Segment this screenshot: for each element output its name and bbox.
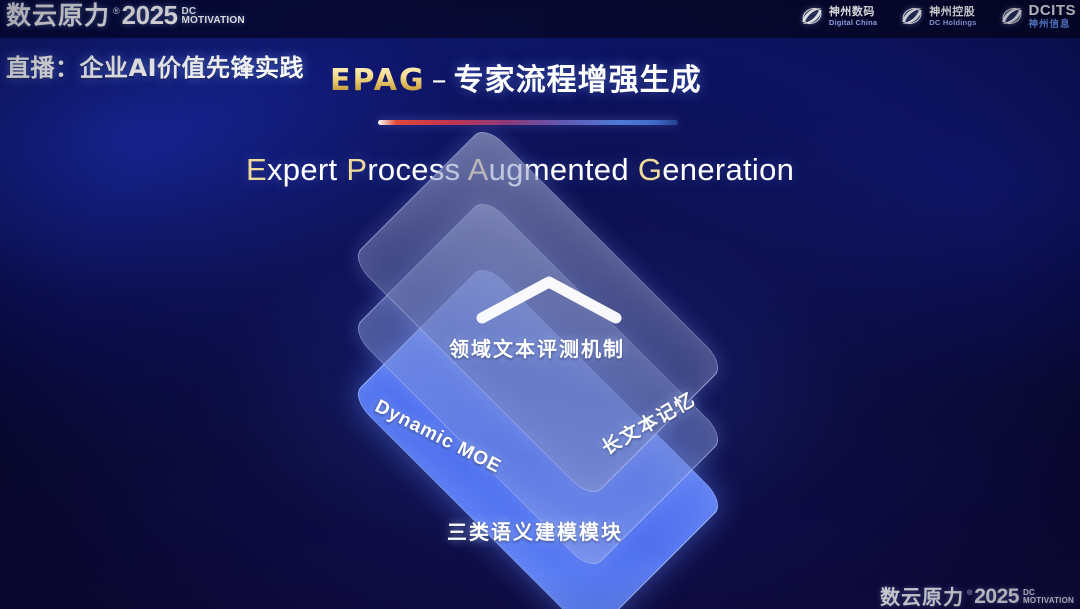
footer-brand-dc-text: DC <box>1023 589 1074 596</box>
subtitle-cap-p: P <box>346 152 367 187</box>
brand-registered-mark: ® <box>113 7 120 16</box>
brand-logo-chinese: 数云原力 <box>6 3 110 28</box>
subtitle-word-expert: xpert <box>267 152 337 187</box>
footer-brand-motivation-text: MOTIVATION <box>1023 596 1074 605</box>
footer-brand-year: 2025 <box>974 586 1019 607</box>
footer-brand-logo: 数云原力 ® 2025 DC MOTIVATION <box>880 586 1074 607</box>
swoosh-icon <box>799 3 825 29</box>
brand-motivation-text: MOTIVATION <box>182 16 245 26</box>
brand-logo-dc-motivation: DC MOTIVATION <box>182 7 245 26</box>
swoosh-icon <box>899 3 925 29</box>
page-title-dash: – <box>432 63 448 98</box>
footer-brand-chinese: 数云原力 <box>880 587 964 607</box>
brand-logo: 数云原力 ® 2025 DC MOTIVATION <box>6 2 245 28</box>
partner-name-en: 神州信息 <box>1029 20 1077 30</box>
partner-logo-dc-holdings: 神州控股 DC Holdings <box>899 3 976 29</box>
title-divider <box>378 120 678 125</box>
live-session-title: 直播：企业AI价值先锋实践 <box>6 48 304 83</box>
page-title-chinese: 专家流程增强生成 <box>454 63 702 98</box>
swoosh-icon <box>999 3 1025 29</box>
partner-name-en: Digital China <box>829 19 877 27</box>
footer-brand-dc-motivation: DC MOTIVATION <box>1023 589 1074 605</box>
partner-logo-digital-china: 神州数码 Digital China <box>799 3 877 29</box>
partner-name-cn: 神州数码 <box>829 6 877 17</box>
subtitle-cap-e: E <box>246 152 267 187</box>
page-title: EPAG–专家流程增强生成 <box>330 55 702 99</box>
partner-name-en: DC Holdings <box>929 19 976 27</box>
subtitle-cap-g: G <box>638 152 662 187</box>
slide-canvas: 数云原力 ® 2025 DC MOTIVATION 直播：企业AI价值先锋实践 … <box>0 0 1080 609</box>
footer-brand-registered-mark: ® <box>967 590 972 597</box>
diagram-layer-top-label: 领域文本评测机制 <box>449 333 625 362</box>
partner-logo-group: 神州数码 Digital China 神州控股 DC Holdings <box>799 3 1076 30</box>
partner-logo-dcits: DCITS 神州信息 <box>999 3 1077 30</box>
page-title-acronym: EPAG <box>330 63 426 98</box>
diagram-layer-bottom-label: 三类语义建模模块 <box>447 516 623 545</box>
partner-name-cn: DCITS <box>1029 3 1077 18</box>
brand-logo-year: 2025 <box>122 2 178 28</box>
partner-name-cn: 神州控股 <box>929 6 976 17</box>
subtitle-word-generation: eneration <box>662 152 794 187</box>
